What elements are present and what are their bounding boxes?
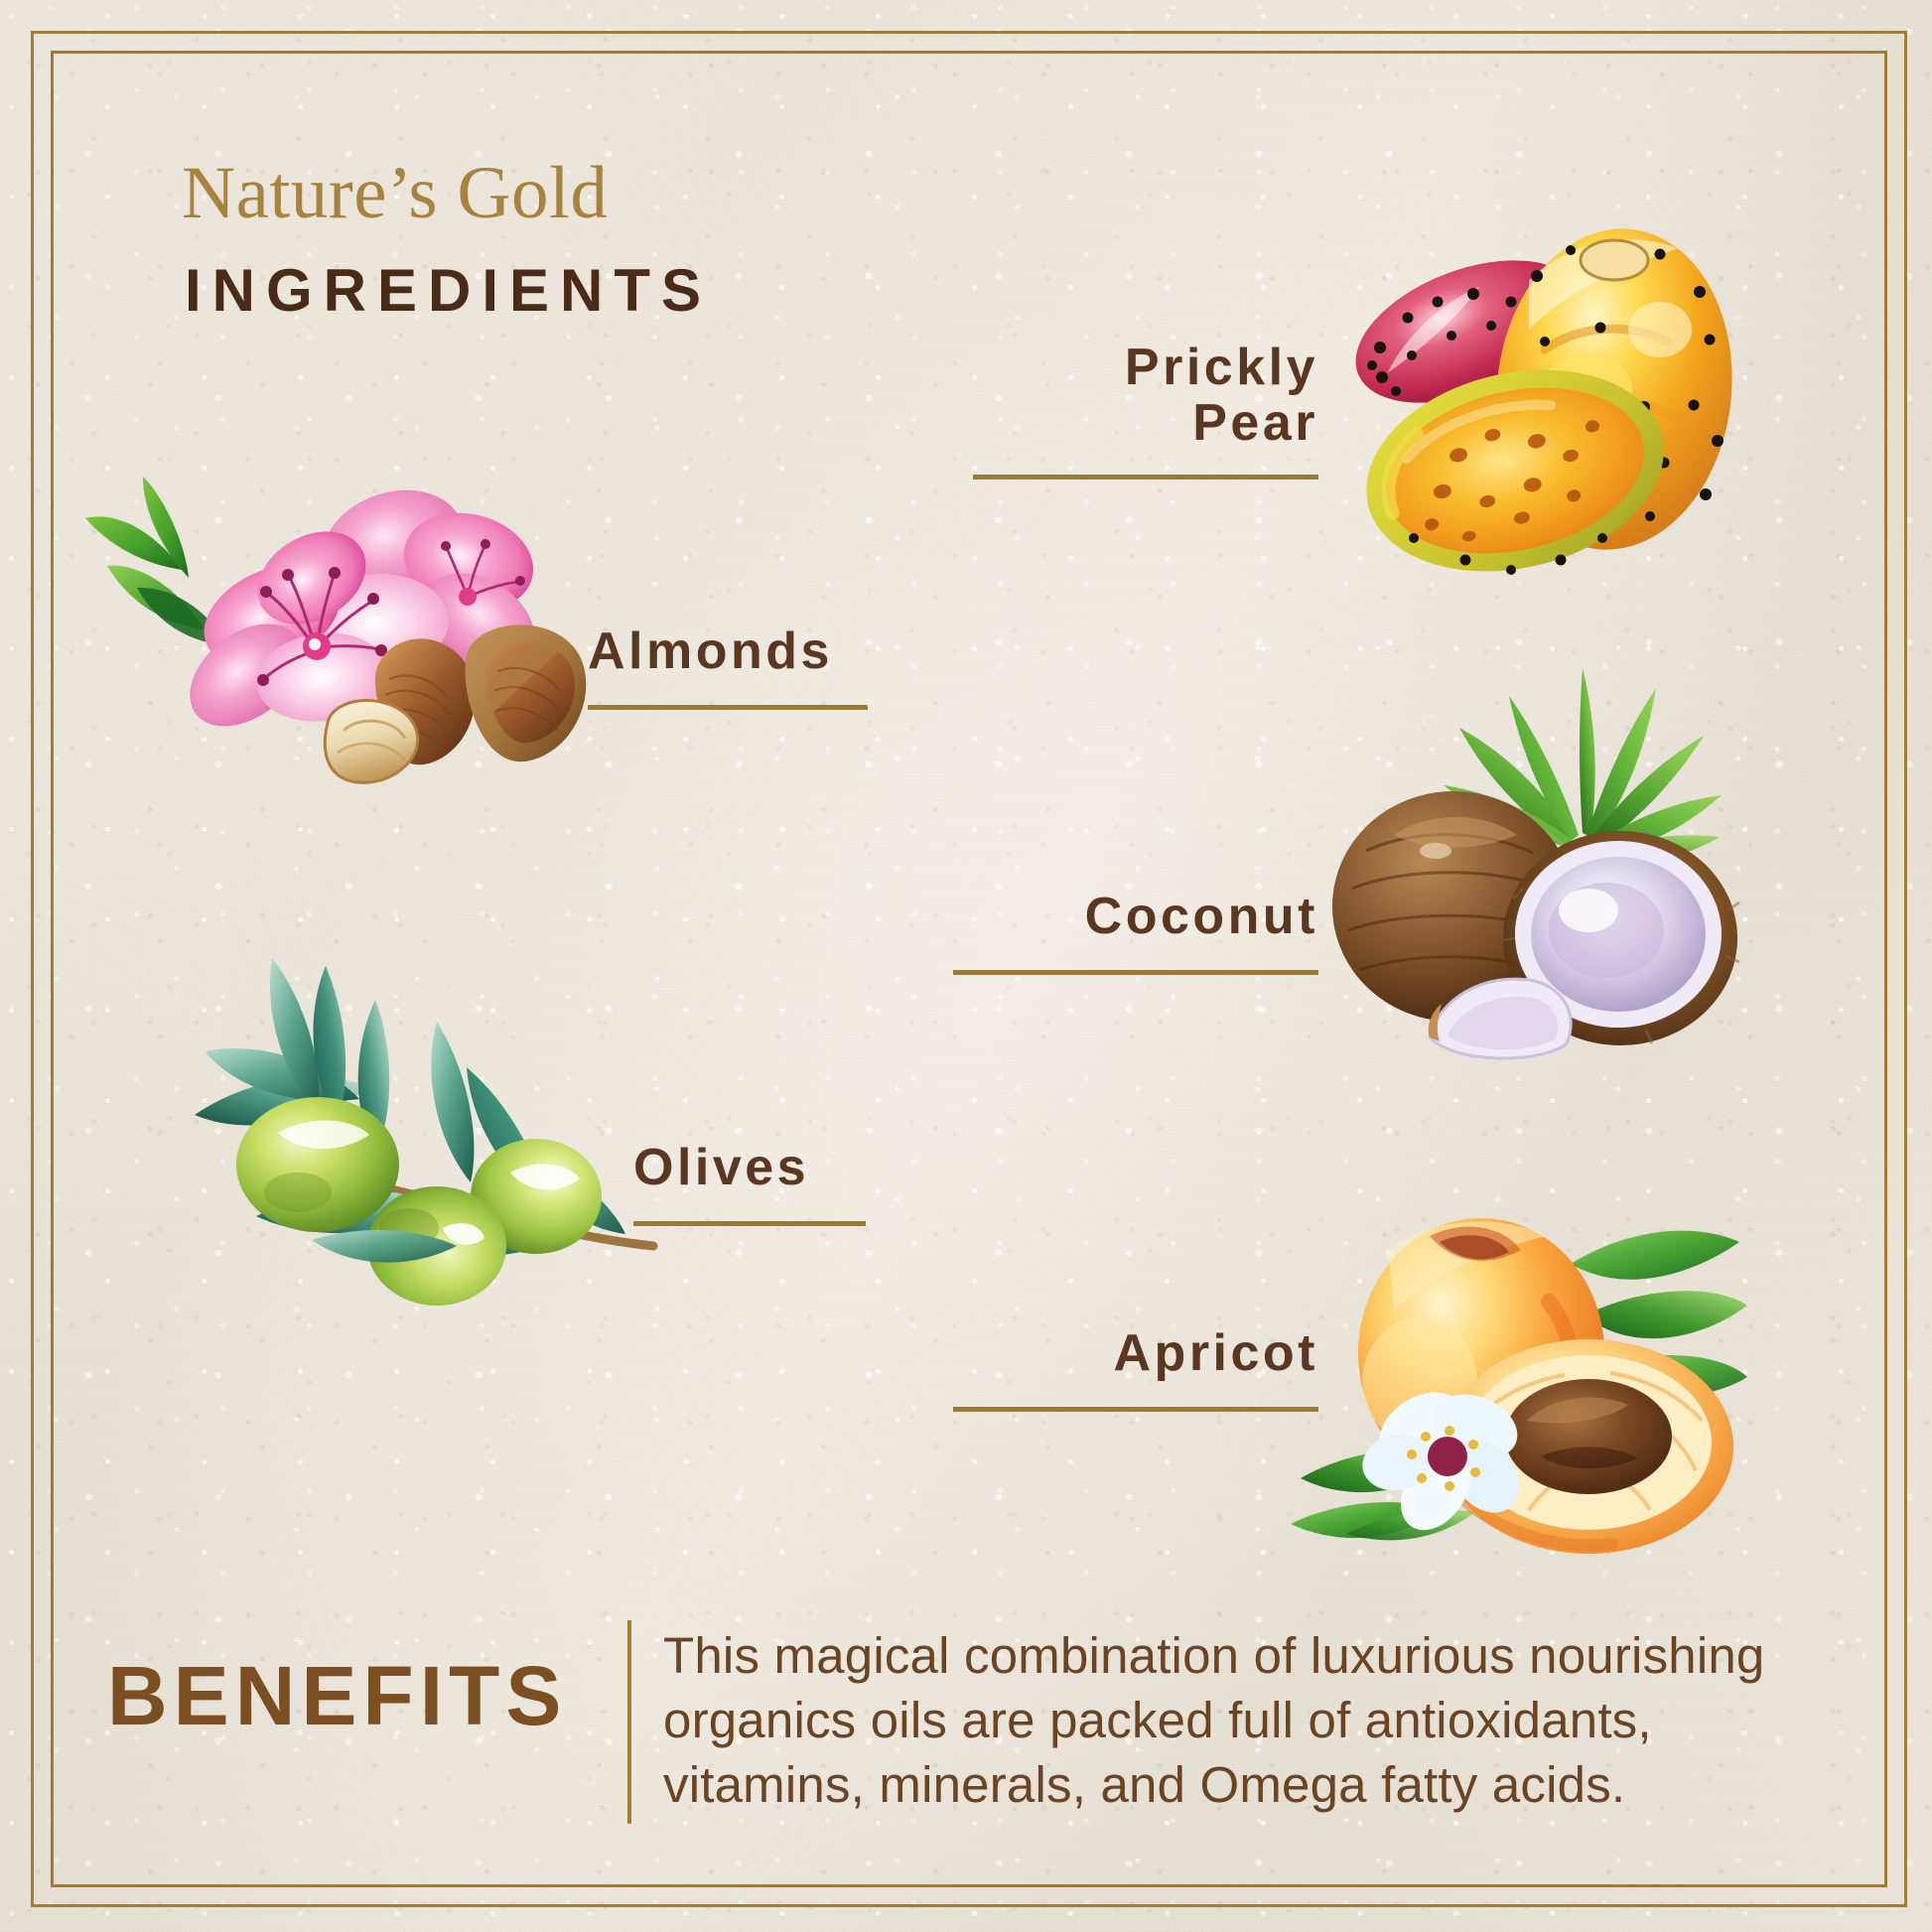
label-almonds: Almonds bbox=[588, 623, 868, 710]
label-apricot: Apricot bbox=[953, 1325, 1318, 1412]
label-coconut-line1: Coconut bbox=[953, 889, 1318, 944]
coconut-illustration bbox=[1318, 640, 1735, 1067]
prickly-pear-illustration bbox=[1316, 210, 1743, 593]
olives-illustration bbox=[139, 948, 655, 1296]
label-almonds-rule bbox=[588, 705, 868, 710]
label-apricot-rule bbox=[953, 1407, 1318, 1412]
page-subtitle: INGREDIENTS bbox=[185, 256, 712, 325]
label-apricot-line1: Apricot bbox=[953, 1325, 1318, 1381]
infographic-page: Nature’s Gold INGREDIENTS bbox=[0, 0, 1932, 1932]
label-prickly-pear-line1: Prickly bbox=[973, 340, 1318, 395]
label-olives-rule bbox=[633, 1221, 866, 1226]
label-olives-line1: Olives bbox=[633, 1140, 866, 1195]
label-almonds-line1: Almonds bbox=[588, 623, 868, 679]
label-coconut: Coconut bbox=[953, 889, 1318, 975]
label-coconut-rule bbox=[953, 970, 1318, 975]
benefits-body-text: This magical combination of luxurious no… bbox=[663, 1624, 1845, 1817]
apricot-illustration bbox=[1291, 1206, 1747, 1554]
almonds-illustration bbox=[77, 467, 574, 794]
label-prickly-pear: Prickly Pear bbox=[973, 340, 1318, 480]
benefits-heading: BENEFITS bbox=[107, 1648, 567, 1744]
label-prickly-pear-line2: Pear bbox=[973, 395, 1318, 451]
label-prickly-pear-rule bbox=[973, 475, 1318, 480]
benefits-divider bbox=[627, 1620, 631, 1824]
page-title: Nature’s Gold bbox=[182, 151, 608, 236]
label-olives: Olives bbox=[633, 1140, 866, 1226]
